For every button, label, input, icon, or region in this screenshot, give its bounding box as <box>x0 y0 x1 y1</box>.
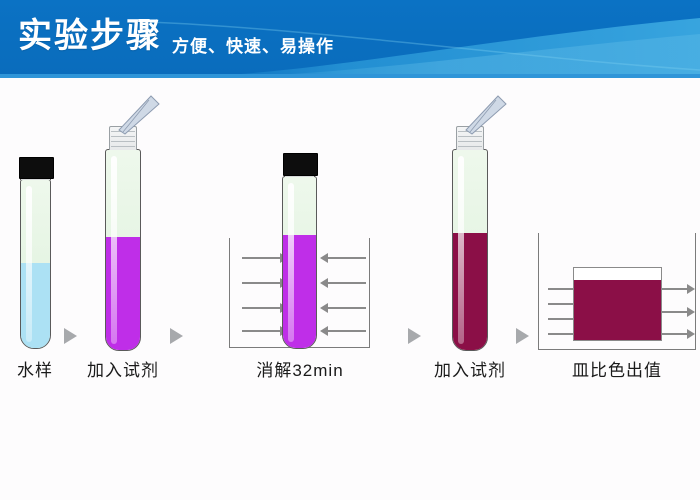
glass-highlight <box>458 156 464 344</box>
tube-glass-body <box>105 149 141 351</box>
heat-arrow-right-head <box>320 303 328 313</box>
tube-glass-body <box>282 176 317 349</box>
step-add-reagent-1: 加入试剂 <box>85 78 165 378</box>
step-add-reagent-2: 加入试剂 <box>432 78 512 378</box>
light-out-arrow <box>661 311 687 313</box>
tube-cap-icon <box>283 153 318 176</box>
step-label-water-sample: 水样 <box>17 356 53 381</box>
cuvette-liquid-burgundy <box>574 280 661 340</box>
page-subtitle: 方便、快速、易操作 <box>172 36 334 58</box>
page-title: 实验步骤 <box>18 16 162 56</box>
glass-highlight <box>288 183 294 342</box>
test-tube-open <box>105 126 141 351</box>
step-separator-3 <box>408 328 421 344</box>
step-water-sample: 水样 <box>0 78 70 378</box>
experiment-steps-row: 水样 加入试剂 <box>0 78 700 418</box>
step-separator-4 <box>516 328 529 344</box>
heat-arrow-right-head <box>320 253 328 263</box>
heat-arrow-right <box>328 282 366 284</box>
light-out-arrow <box>661 333 687 335</box>
heat-arrow-left <box>242 307 280 309</box>
step-digest: 消解32min <box>205 78 395 378</box>
test-tube-capped <box>19 157 52 349</box>
tube-glass-body <box>452 149 488 351</box>
step-colorimetry: 皿比色出值 <box>535 78 700 378</box>
heat-arrow-right <box>328 307 366 309</box>
light-in-arrow <box>548 333 574 335</box>
page-header-banner: 实验步骤 方便、快速、易操作 <box>0 0 700 78</box>
step-separator-1 <box>64 328 77 344</box>
light-out-arrow-head <box>687 284 695 294</box>
test-tube-open <box>452 126 488 351</box>
heat-arrow-left <box>242 282 280 284</box>
light-in-arrow <box>548 318 574 320</box>
test-tube-capped <box>282 153 317 349</box>
heat-arrow-right-head <box>320 278 328 288</box>
heat-arrow-left <box>242 330 280 332</box>
glass-highlight <box>111 156 117 344</box>
colorimetric-cuvette <box>573 267 662 341</box>
pipette-icon <box>450 92 510 152</box>
light-out-arrow-head <box>687 329 695 339</box>
step-label-colorimetry: 皿比色出值 <box>572 356 662 381</box>
light-out-arrow-head <box>687 307 695 317</box>
pipette-icon <box>103 92 163 152</box>
heat-arrow-right <box>328 257 366 259</box>
step-label-add-reagent-2: 加入试剂 <box>434 356 506 381</box>
tube-cap-icon <box>19 157 54 179</box>
glass-highlight <box>26 186 32 342</box>
tube-glass-body <box>20 179 51 349</box>
heat-arrow-left <box>242 257 280 259</box>
light-in-arrow <box>548 288 574 290</box>
heat-arrow-right <box>328 330 366 332</box>
screenshot-canvas: 实验步骤 方便、快速、易操作 水样 <box>0 0 700 500</box>
colorimeter-chamber <box>538 233 696 350</box>
step-separator-2 <box>170 328 183 344</box>
light-in-arrow <box>548 303 574 305</box>
step-label-add-reagent-1: 加入试剂 <box>87 356 159 381</box>
light-out-arrow <box>661 288 687 290</box>
step-label-digest: 消解32min <box>256 356 343 381</box>
heat-arrow-right-head <box>320 326 328 336</box>
